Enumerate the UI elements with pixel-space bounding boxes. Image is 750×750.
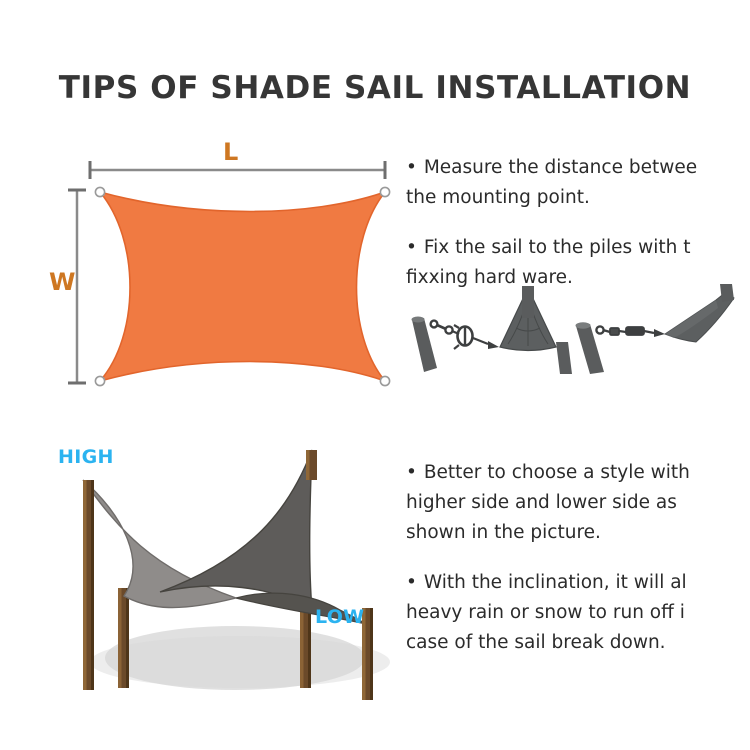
sail-install-figure — [40, 440, 420, 705]
tips-top-text: • Measure the distance betwee the mounti… — [406, 153, 697, 293]
bullet-text: Fix the sail to the piles with t — [424, 237, 691, 258]
ground-shadow-soft — [90, 636, 390, 688]
infographic-page: TIPS OF SHADE SAIL INSTALLATION — [0, 0, 750, 750]
bullet-marker: • — [406, 572, 418, 593]
bullet-line: heavy rain or snow to run off i — [406, 598, 690, 628]
post-back-left — [118, 588, 129, 688]
bullet-line: • Better to choose a style with — [406, 458, 690, 488]
bullet-line: shown in the picture. — [406, 518, 690, 548]
bullet-marker: • — [406, 237, 418, 258]
bullet-text: With the inclination, it will al — [424, 572, 687, 593]
high-side-label: HIGH — [58, 446, 114, 468]
hardware-svg-2 — [566, 284, 750, 374]
bullet-line: higher side and lower side as — [406, 488, 690, 518]
page-title: TIPS OF SHADE SAIL INSTALLATION — [0, 70, 750, 106]
post-tall-right — [306, 450, 317, 480]
paragraph-gap — [406, 213, 697, 233]
low-side-label: LOW — [315, 606, 364, 628]
bullet-marker: • — [406, 462, 418, 483]
sail-dimension-svg — [55, 140, 400, 400]
length-label: L — [223, 138, 238, 166]
paragraph-gap — [406, 548, 690, 568]
sail-dark-gray — [160, 450, 312, 610]
hardware-figure-post-sail-corner — [566, 284, 750, 374]
width-label: W — [49, 268, 75, 296]
post-icon — [576, 322, 605, 374]
bullet-text: Measure the distance betwee — [424, 157, 697, 178]
bullet-line: the mounting point. — [406, 183, 697, 213]
bullet-line: • Measure the distance betwee — [406, 153, 697, 183]
turnbuckle-hardware-icon — [596, 326, 665, 337]
post-left-icon — [412, 317, 438, 373]
turnbuckle-hardware-icon — [431, 321, 499, 349]
sail-light-gray — [83, 480, 236, 608]
post-front-left — [83, 480, 94, 690]
post-top-icon — [720, 284, 734, 302]
orange-sail-shape — [100, 192, 385, 381]
bullet-line: case of the sail break down. — [406, 628, 690, 658]
bullet-line: • With the inclination, it will al — [406, 568, 690, 598]
tips-bottom-text: • Better to choose a style with higher s… — [406, 458, 690, 658]
bullet-marker: • — [406, 157, 418, 178]
sail-dimension-figure: L W — [55, 140, 400, 400]
bullet-text: Better to choose a style with — [424, 462, 690, 483]
sail-install-svg — [40, 440, 420, 705]
bullet-line: • Fix the sail to the piles with t — [406, 233, 697, 263]
